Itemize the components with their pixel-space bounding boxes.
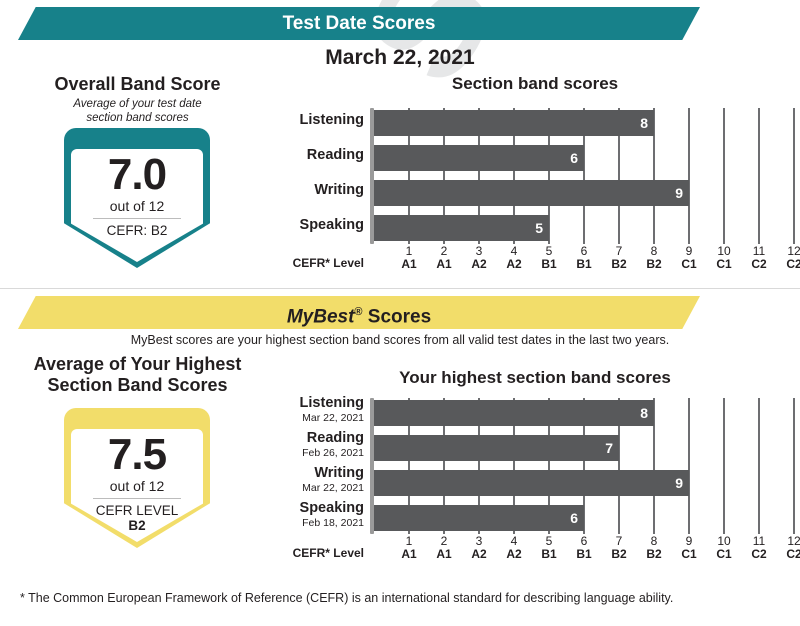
bar-row: ReadingFeb 26, 20217 [272, 435, 792, 461]
x-tick-1: 1A1 [396, 245, 422, 271]
bar-row-section-name: Writing [272, 466, 364, 481]
x-tick-cefr-level: A2 [501, 548, 527, 561]
x-tick-cefr-level: A1 [431, 258, 457, 271]
bar-value-label: 9 [675, 470, 683, 496]
test-date: March 22, 2021 [0, 46, 800, 70]
badge-content-yellow: 7.5 out of 12 CEFR LEVEL B2 [64, 434, 210, 535]
overall-band-score-outof: out of 12 [64, 198, 210, 214]
bar-row: Speaking5 [272, 215, 792, 241]
mybest-average-score-value: 7.5 [64, 434, 210, 476]
badge-content-teal: 7.0 out of 12 CEFR: B2 [64, 154, 210, 238]
bar-value-label: 6 [570, 505, 578, 531]
bar-row-section-name: Reading [272, 148, 364, 163]
chart1-cefr-axis-label: CEFR* Level [272, 256, 364, 270]
x-tick-cefr-level: B2 [606, 548, 632, 561]
mybest-description: MyBest scores are your highest section b… [0, 333, 800, 347]
bar-row-label: WritingMar 22, 2021 [272, 466, 364, 494]
mybest-average-outof: out of 12 [64, 478, 210, 494]
bar: 9 [374, 180, 689, 206]
mybest-section-band-scores-chart: ListeningMar 22, 20218ReadingFeb 26, 202… [272, 394, 792, 554]
bar-value-label: 9 [675, 180, 683, 206]
bar-row-label: SpeakingFeb 18, 2021 [272, 501, 364, 529]
x-tick-cefr-level: C2 [781, 258, 800, 271]
x-tick-cefr-level: B2 [606, 258, 632, 271]
bar: 9 [374, 470, 689, 496]
overall-band-score-subheading: Average of your test date section band s… [10, 97, 265, 125]
bar-row-test-date: Feb 18, 2021 [272, 517, 364, 529]
x-tick-2: 2A1 [431, 245, 457, 271]
gridline-12 [793, 108, 795, 244]
overall-band-score-subheading-line2: section band scores [10, 111, 265, 125]
x-tick-cefr-level: B1 [571, 258, 597, 271]
x-tick-cefr-level: B1 [536, 258, 562, 271]
bar-row-label: Listening [272, 113, 364, 128]
bar: 8 [374, 110, 654, 136]
chart2-cefr-axis-label: CEFR* Level [272, 546, 364, 560]
section-band-scores-chart-title: Section band scores [370, 74, 700, 94]
x-tick-cefr-level: B1 [571, 548, 597, 561]
bar-row-label: Reading [272, 148, 364, 163]
bar-row: Listening8 [272, 110, 792, 136]
x-tick-cefr-level: B2 [641, 548, 667, 561]
score-report-page: SAMPLE Test Date Scores March 22, 2021 O… [0, 0, 800, 626]
cefr-footnote: * The Common European Framework of Refer… [20, 590, 720, 607]
x-tick-cefr-level: C2 [781, 548, 800, 561]
gridline-12 [793, 398, 795, 534]
bar-value-label: 8 [640, 110, 648, 136]
x-tick-6: 6B1 [571, 245, 597, 271]
bar: 8 [374, 400, 654, 426]
x-tick-9: 9C1 [676, 245, 702, 271]
x-tick-2: 2A1 [431, 535, 457, 561]
mybest-banner-title-rest: Scores [363, 306, 432, 327]
x-tick-cefr-level: C1 [711, 548, 737, 561]
bar: 6 [374, 145, 584, 171]
bar-row: WritingMar 22, 20219 [272, 470, 792, 496]
x-tick-12: 12C2 [781, 535, 800, 561]
bar-row-label: Writing [272, 183, 364, 198]
mybest-average-badge: 7.5 out of 12 CEFR LEVEL B2 [64, 408, 210, 548]
bar-row-section-name: Reading [272, 431, 364, 446]
bar-value-label: 6 [570, 145, 578, 171]
x-tick-cefr-level: A1 [431, 548, 457, 561]
mybest-chart-title-text: Your highest section band scores [399, 368, 671, 387]
x-tick-9: 9C1 [676, 535, 702, 561]
x-tick-11: 11C2 [746, 245, 772, 271]
bar-row-section-name: Speaking [272, 218, 364, 233]
bar-row-section-name: Speaking [272, 501, 364, 516]
x-tick-cefr-level: C1 [711, 258, 737, 271]
x-tick-cefr-level: A1 [396, 258, 422, 271]
mybest-chart-title: Your highest section band scores [370, 368, 700, 388]
badge-divider-yellow [93, 498, 181, 499]
x-tick-5: 5B1 [536, 535, 562, 561]
x-tick-4: 4A2 [501, 535, 527, 561]
x-tick-cefr-level: A1 [396, 548, 422, 561]
section-band-scores-chart: Listening8Reading6Writing9Speaking5 CEFR… [272, 104, 792, 264]
overall-band-score-subheading-line1: Average of your test date [10, 97, 265, 111]
cefr-footnote-text: * The Common European Framework of Refer… [20, 591, 673, 605]
mybest-average-heading-line2: Section Band Scores [10, 375, 265, 396]
bar-row-section-name: Writing [272, 183, 364, 198]
x-tick-cefr-level: A2 [466, 258, 492, 271]
x-tick-7: 7B2 [606, 535, 632, 561]
mybest-scores-banner: MyBest® Scores [18, 296, 700, 329]
bar-value-label: 5 [535, 215, 543, 241]
mybest-average-cefr-value: B2 [64, 518, 210, 534]
x-tick-cefr-level: A2 [501, 258, 527, 271]
bar-row: Reading6 [272, 145, 792, 171]
x-tick-cefr-level: A2 [466, 548, 492, 561]
overall-band-score-heading: Overall Band Score [10, 74, 265, 95]
x-tick-3: 3A2 [466, 245, 492, 271]
bar: 5 [374, 215, 549, 241]
bar-row-section-name: Listening [272, 113, 364, 128]
x-tick-1: 1A1 [396, 535, 422, 561]
x-tick-7: 7B2 [606, 245, 632, 271]
x-tick-3: 3A2 [466, 535, 492, 561]
bar-row: Writing9 [272, 180, 792, 206]
x-tick-6: 6B1 [571, 535, 597, 561]
bar-row-section-name: Listening [272, 396, 364, 411]
x-tick-cefr-level: B1 [536, 548, 562, 561]
overall-band-score-value: 7.0 [64, 154, 210, 196]
mybest-average-heading-line1: Average of Your Highest [10, 354, 265, 375]
bar-row-test-date: Mar 22, 2021 [272, 412, 364, 424]
bar-row-label: ListeningMar 22, 2021 [272, 396, 364, 424]
mybest-average-heading: Average of Your Highest Section Band Sco… [10, 354, 265, 396]
x-tick-11: 11C2 [746, 535, 772, 561]
overall-band-score-badge: 7.0 out of 12 CEFR: B2 [64, 128, 210, 268]
mybest-banner-title-em: MyBest [287, 306, 355, 327]
section-divider [0, 288, 800, 289]
bar-row-test-date: Feb 26, 2021 [272, 447, 364, 459]
mybest-description-text: MyBest scores are your highest section b… [131, 333, 669, 347]
x-tick-cefr-level: C2 [746, 258, 772, 271]
x-tick-10: 10C1 [711, 245, 737, 271]
x-tick-8: 8B2 [641, 245, 667, 271]
bar-value-label: 8 [640, 400, 648, 426]
x-tick-cefr-level: B2 [641, 258, 667, 271]
x-tick-cefr-level: C1 [676, 258, 702, 271]
test-date-value: March 22, 2021 [325, 46, 474, 69]
overall-band-score-heading-text: Overall Band Score [54, 74, 220, 94]
x-tick-cefr-level: C1 [676, 548, 702, 561]
x-tick-4: 4A2 [501, 245, 527, 271]
bar-row-test-date: Mar 22, 2021 [272, 482, 364, 494]
badge-divider-teal [93, 218, 181, 219]
bar-row: ListeningMar 22, 20218 [272, 400, 792, 426]
bar: 6 [374, 505, 584, 531]
bar-row-label: Speaking [272, 218, 364, 233]
bar-row: SpeakingFeb 18, 20216 [272, 505, 792, 531]
x-tick-12: 12C2 [781, 245, 800, 271]
x-tick-10: 10C1 [711, 535, 737, 561]
section-band-scores-chart-title-text: Section band scores [452, 74, 618, 93]
mybest-average-cefr-label: CEFR LEVEL [64, 503, 210, 519]
test-date-scores-banner: Test Date Scores [18, 7, 700, 40]
bar: 7 [374, 435, 619, 461]
mybest-banner-registered-mark: ® [354, 306, 362, 318]
bar-row-label: ReadingFeb 26, 2021 [272, 431, 364, 459]
test-date-scores-banner-title: Test Date Scores [283, 13, 436, 34]
x-tick-5: 5B1 [536, 245, 562, 271]
bar-value-label: 7 [605, 435, 613, 461]
x-tick-8: 8B2 [641, 535, 667, 561]
x-tick-cefr-level: C2 [746, 548, 772, 561]
overall-band-score-cefr: CEFR: B2 [64, 223, 210, 239]
